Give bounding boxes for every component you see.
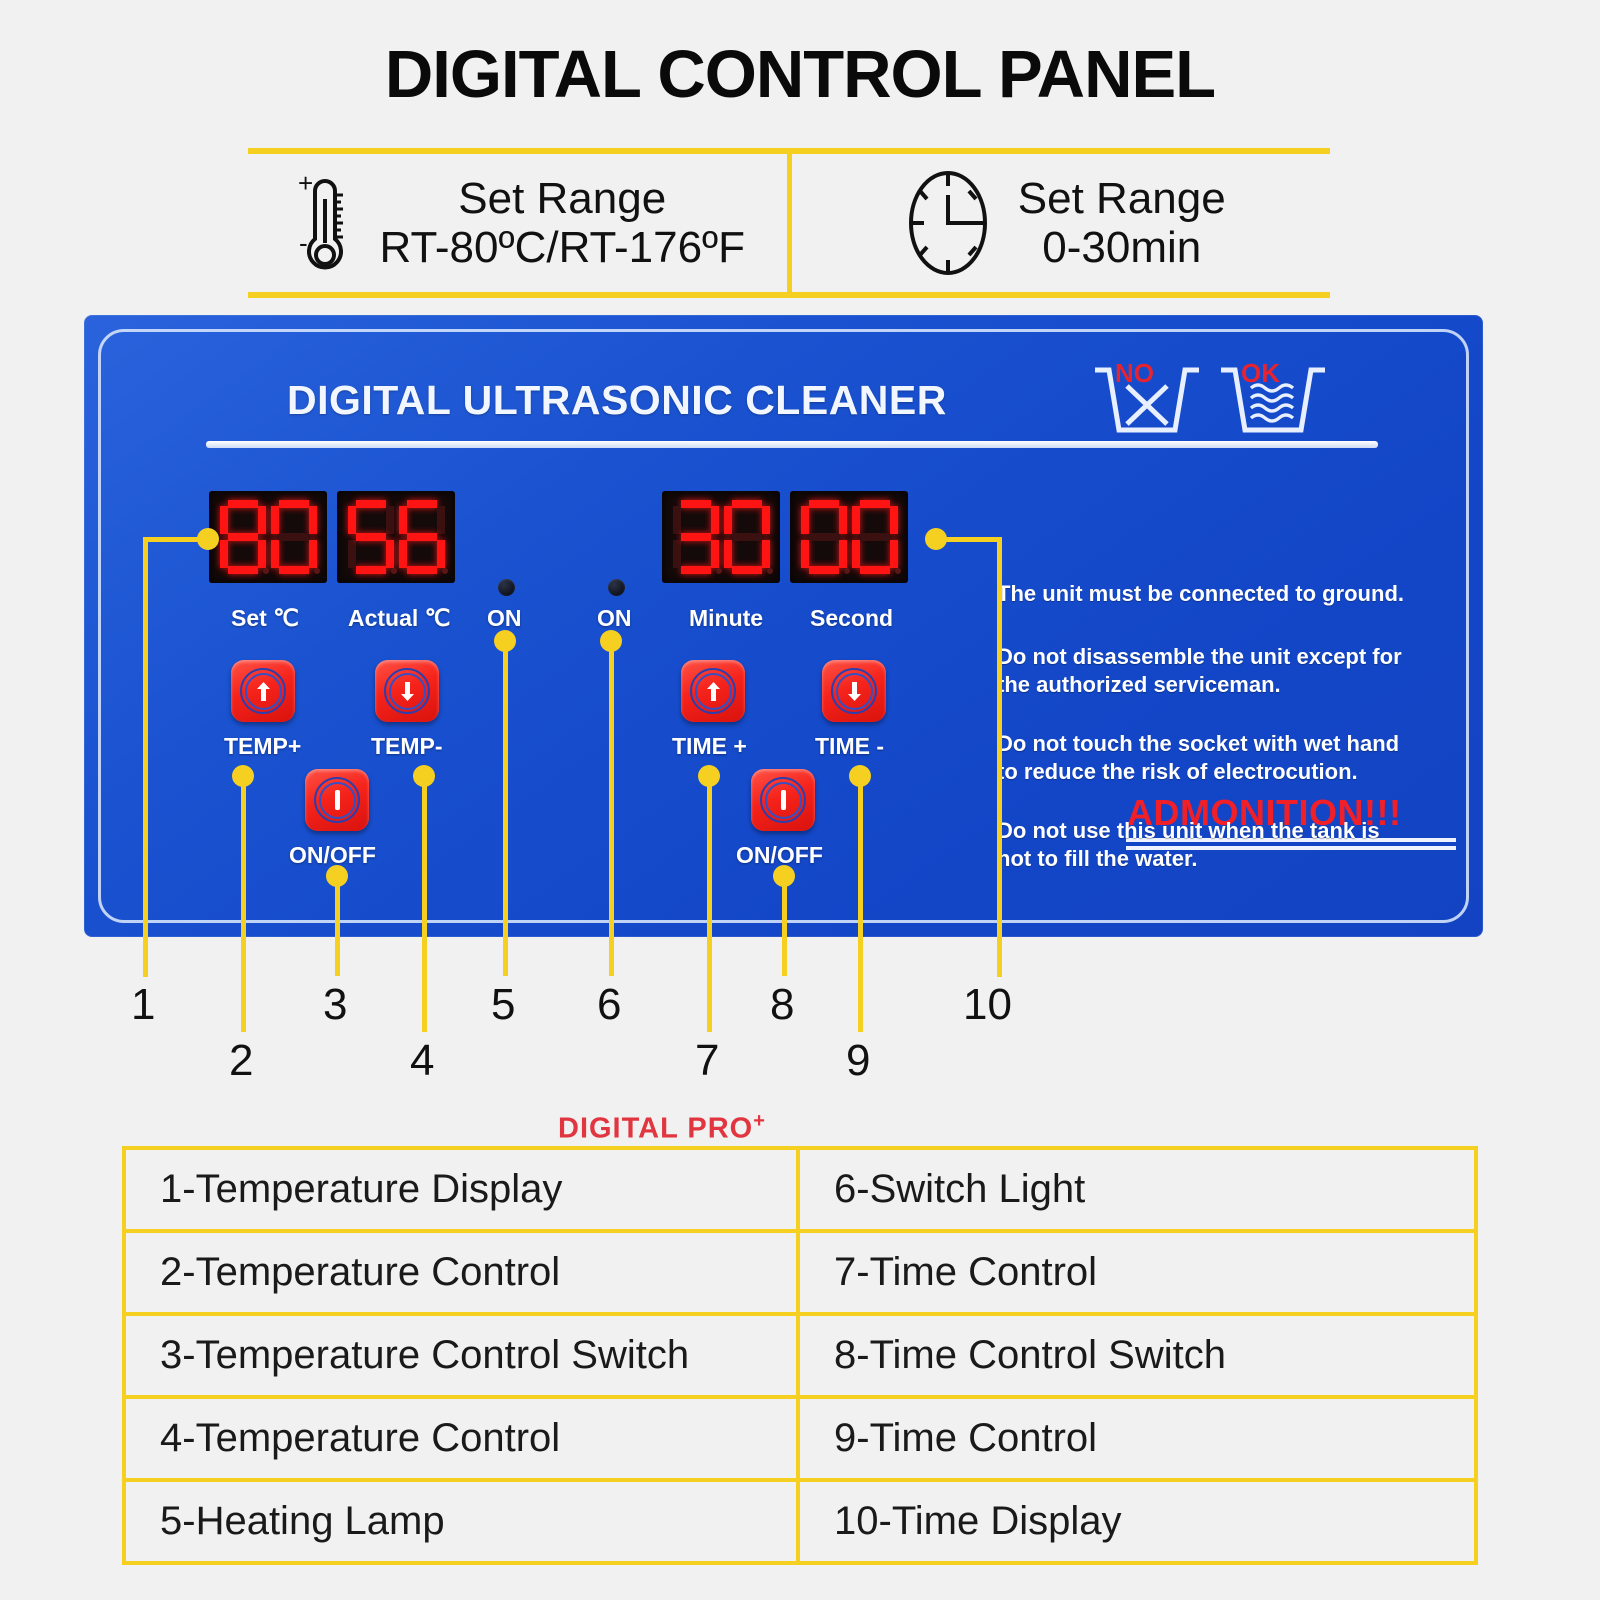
table-row: 1-Temperature Display 6-Switch Light: [126, 1150, 1474, 1233]
heating-lamp-label: ON: [487, 605, 522, 632]
set-range-temperature-text: Set Range RT-80ºC/RT-176ºF: [379, 174, 745, 273]
set-temperature-display: [209, 491, 327, 583]
callout-number-1: 1: [131, 980, 155, 1030]
button-ring-inner: [765, 782, 802, 819]
page-title: DIGITAL CONTROL PANEL: [0, 36, 1600, 113]
control-panel: DIGITAL ULTRASONIC CLEANER: [84, 315, 1483, 937]
legend-cell-9: 9-Time Control: [800, 1399, 1474, 1478]
button-ring-inner: [836, 673, 873, 710]
admonition-line-4: Do not use this unit when the tank is no…: [997, 817, 1380, 873]
legend-cell-7: 7-Time Control: [800, 1233, 1474, 1312]
minute-label: Minute: [689, 605, 763, 632]
set-range-time-value: 0-30min: [1042, 223, 1201, 272]
callout-line-8v: [782, 876, 787, 976]
thermometer-icon: + -: [289, 169, 361, 277]
callout-line-2v: [241, 776, 246, 1032]
callout-number-7: 7: [695, 1036, 719, 1086]
button-ring: [831, 668, 877, 714]
arrow-up-icon: [256, 682, 271, 701]
button-ring: [314, 777, 360, 823]
set-range-time-text: Set Range 0-30min: [1018, 174, 1226, 273]
set-range-temperature-label: Set Range: [458, 174, 666, 223]
time-onoff-button[interactable]: [751, 769, 815, 831]
bucket-ok-label: OK: [1241, 360, 1280, 388]
seven-segment-digit: [271, 500, 317, 574]
time-up-button[interactable]: [681, 660, 745, 722]
legend-cell-8: 8-Time Control Switch: [800, 1316, 1474, 1395]
table-row: 2-Temperature Control 7-Time Control: [126, 1233, 1474, 1316]
button-ring-inner: [319, 782, 356, 819]
callout-number-9: 9: [846, 1036, 870, 1086]
svg-text:-: -: [299, 228, 308, 258]
admonition-line-3: Do not touch the socket with wet hand to…: [997, 730, 1399, 786]
callout-number-10: 10: [963, 980, 1012, 1030]
set-range-temperature-value: RT-80ºC/RT-176ºF: [379, 223, 745, 272]
bucket-no-label: NO: [1115, 360, 1154, 388]
second-label: Second: [810, 605, 893, 632]
minute-display: [662, 491, 780, 583]
legend-cell-5: 5-Heating Lamp: [126, 1482, 800, 1561]
callout-line-4v: [422, 776, 427, 1032]
button-ring-inner: [389, 673, 426, 710]
callout-number-5: 5: [491, 980, 515, 1030]
clock-icon: [896, 167, 1000, 279]
callout-line-3v: [335, 876, 340, 976]
set-range-time: Set Range 0-30min: [792, 154, 1331, 292]
legend-cell-1: 1-Temperature Display: [126, 1150, 800, 1229]
callout-line-9v: [858, 776, 863, 1032]
seven-segment-digit: [724, 500, 770, 574]
digital-pro-mark: DIGITAL PRO+: [558, 1110, 766, 1146]
switch-light-label: ON: [597, 605, 632, 632]
button-ring-inner: [245, 673, 282, 710]
button-ring: [240, 668, 286, 714]
time-down-button[interactable]: [822, 660, 886, 722]
digital-pro-sup: +: [753, 1110, 766, 1132]
seven-segment-digit: [852, 500, 898, 574]
legend-cell-10: 10-Time Display: [800, 1482, 1474, 1561]
callout-line-5v: [503, 641, 508, 976]
power-icon: [781, 790, 786, 810]
button-ring: [384, 668, 430, 714]
button-ring-inner: [695, 673, 732, 710]
callout-line-10v: [997, 537, 1002, 977]
legend-cell-6: 6-Switch Light: [800, 1150, 1474, 1229]
set-range-strip: + - Set Range RT-80ºC/RT-176ºF: [248, 148, 1330, 298]
temp-down-label: TEMP-: [371, 733, 443, 760]
arrow-down-icon: [847, 682, 862, 701]
temp-onoff-button[interactable]: [305, 769, 369, 831]
temp-down-button[interactable]: [375, 660, 439, 722]
table-row: 3-Temperature Control Switch 8-Time Cont…: [126, 1316, 1474, 1399]
temp-up-button[interactable]: [231, 660, 295, 722]
callout-line-6v: [609, 641, 614, 976]
callout-number-6: 6: [597, 980, 621, 1030]
table-row: 4-Temperature Control 9-Time Control: [126, 1399, 1474, 1482]
callout-number-4: 4: [410, 1036, 434, 1086]
button-ring: [760, 777, 806, 823]
heating-lamp-indicator: [498, 579, 515, 596]
legend-cell-4: 4-Temperature Control: [126, 1399, 800, 1478]
set-range-temperature: + - Set Range RT-80ºC/RT-176ºF: [248, 154, 792, 292]
time-up-label: TIME +: [672, 733, 747, 760]
power-icon: [335, 790, 340, 810]
legend-cell-3: 3-Temperature Control Switch: [126, 1316, 800, 1395]
arrow-down-icon: [400, 682, 415, 701]
callout-number-3: 3: [323, 980, 347, 1030]
actual-temperature-display: [337, 491, 455, 583]
admonition-line-1: The unit must be connected to ground.: [997, 580, 1404, 608]
seven-segment-digit: [399, 500, 445, 574]
time-down-label: TIME -: [815, 733, 884, 760]
seven-segment-digit: [348, 500, 394, 574]
callout-line-1v: [143, 537, 148, 977]
bucket-icons: NO OK: [1089, 360, 1329, 440]
callout-line-7v: [707, 776, 712, 1032]
actual-temperature-label: Actual ℃: [348, 605, 451, 632]
callout-number-2: 2: [229, 1036, 253, 1086]
page-root: DIGITAL CONTROL PANEL + - Set Range RT-8…: [0, 0, 1600, 1600]
panel-brand-text: DIGITAL ULTRASONIC CLEANER: [287, 377, 947, 424]
set-temperature-label: Set ℃: [231, 605, 299, 632]
legend-table: 1-Temperature Display 6-Switch Light 2-T…: [122, 1146, 1478, 1565]
svg-text:+: +: [298, 169, 313, 198]
legend-cell-2: 2-Temperature Control: [126, 1233, 800, 1312]
callout-line-10h: [936, 537, 1002, 542]
seven-segment-digit: [673, 500, 719, 574]
panel-divider: [206, 441, 1378, 448]
seven-segment-digit: [220, 500, 266, 574]
second-display: [790, 491, 908, 583]
arrow-up-icon: [706, 682, 721, 701]
digital-pro-text: DIGITAL PRO: [558, 1113, 753, 1145]
callout-line-1h: [143, 537, 205, 542]
switch-light-indicator: [608, 579, 625, 596]
button-ring: [690, 668, 736, 714]
admonition-line-2: Do not disassemble the unit except for t…: [997, 643, 1402, 699]
callout-number-8: 8: [770, 980, 794, 1030]
temp-up-label: TEMP+: [224, 733, 301, 760]
set-range-time-label: Set Range: [1018, 174, 1226, 223]
seven-segment-digit: [801, 500, 847, 574]
table-row: 5-Heating Lamp 10-Time Display: [126, 1482, 1474, 1561]
